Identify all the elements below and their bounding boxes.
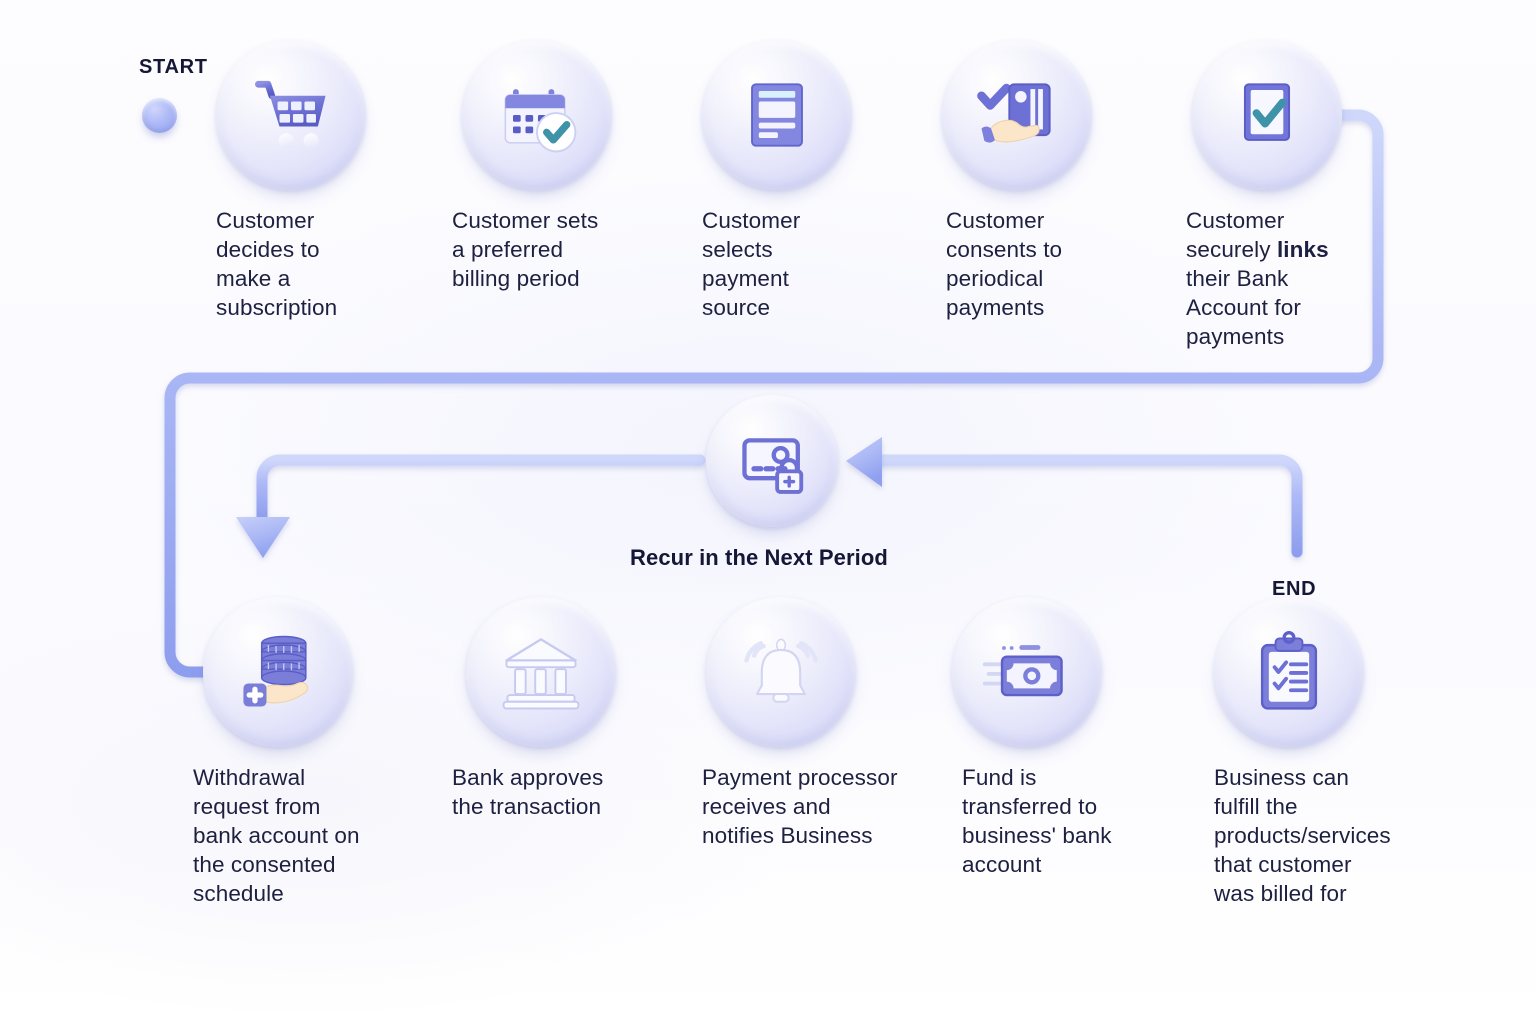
node-checked-document[interactable] <box>1192 40 1342 190</box>
start-dot <box>142 98 177 133</box>
recur-label: Recur in the Next Period <box>630 545 888 571</box>
bank-building-icon <box>493 624 589 720</box>
caption-n2: Customer sets a preferred billing period <box>452 206 642 293</box>
node-bank-building[interactable] <box>466 597 616 747</box>
caption-n9: Fund is transferred to business' bank ac… <box>962 763 1152 879</box>
shopping-cart-icon <box>243 67 339 163</box>
secure-card-lock-icon <box>729 418 815 504</box>
notification-bell-icon <box>733 624 829 720</box>
node-hand-holding-card[interactable] <box>942 40 1092 190</box>
calendar-check-icon <box>489 67 585 163</box>
connector-outer-loop <box>170 115 1378 672</box>
flowchart-canvas: START END Recur in the Next Period <box>0 0 1536 1024</box>
connector-recur-loop <box>880 460 1297 552</box>
start-label: START <box>139 56 208 79</box>
node-calendar-check[interactable] <box>462 40 612 190</box>
payment-form-icon <box>729 67 825 163</box>
caption-n8: Payment processor receives and notifies … <box>702 763 932 850</box>
banknote-transfer-icon <box>979 624 1075 720</box>
arrowhead-left <box>846 437 882 487</box>
node-payment-form[interactable] <box>702 40 852 190</box>
clipboard-checklist-icon <box>1241 624 1337 720</box>
node-shopping-cart[interactable] <box>216 40 366 190</box>
connector-recur-to-arrow <box>262 460 700 518</box>
caption-n5: Customer securely links their Bank Accou… <box>1186 206 1386 351</box>
caption-n1: Customer decides to make a subscription <box>216 206 396 322</box>
node-notification-bell[interactable] <box>706 597 856 747</box>
node-clipboard-checklist[interactable] <box>1214 597 1364 747</box>
caption-n10: Business can fulfill the products/servic… <box>1214 763 1429 908</box>
hand-holding-card-icon <box>969 67 1065 163</box>
caption-n6: Withdrawal request from bank account on … <box>193 763 403 908</box>
arrowhead-down <box>236 517 290 558</box>
caption-n4: Customer consents to periodical payments <box>946 206 1131 322</box>
caption-n7: Bank approves the transaction <box>452 763 652 821</box>
node-secure-card-lock[interactable] <box>706 395 838 527</box>
node-hand-holding-coins[interactable] <box>203 597 353 747</box>
checked-document-icon <box>1219 67 1315 163</box>
node-banknote-transfer[interactable] <box>952 597 1102 747</box>
hand-holding-coins-icon <box>230 624 326 720</box>
caption-n3: Customer selects payment source <box>702 206 882 322</box>
